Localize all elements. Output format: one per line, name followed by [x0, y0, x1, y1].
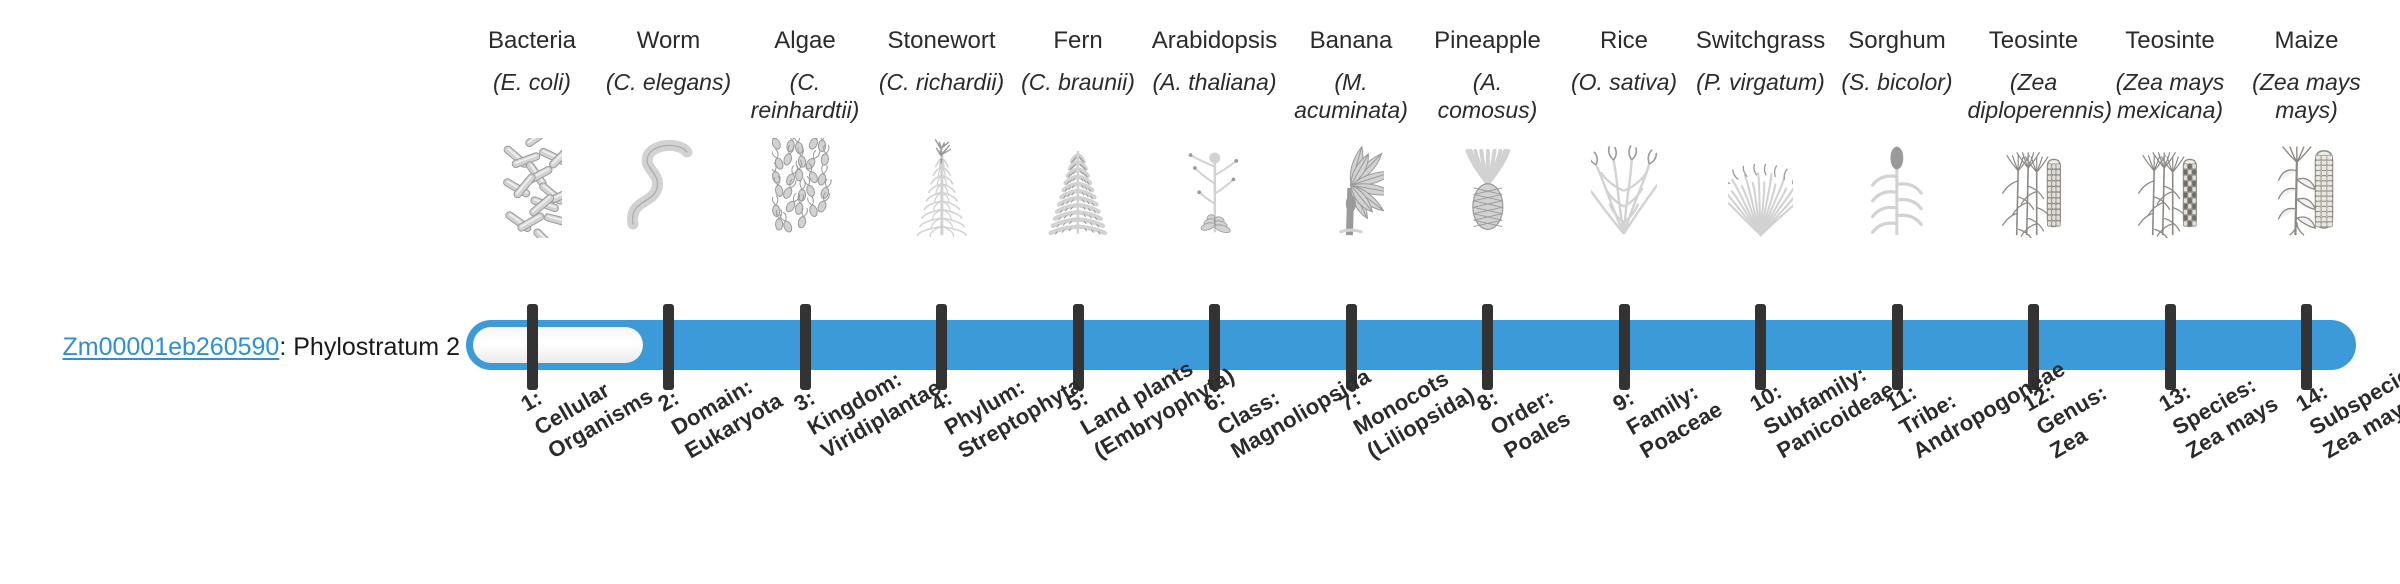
nematode-worm-icon — [601, 138, 737, 238]
species-common-name: Stonewort — [874, 26, 1010, 56]
sorghum-plant-icon — [1829, 138, 1965, 238]
species-latin-name: (C. braunii) — [1010, 68, 1146, 96]
species-column: Switchgrass(P. virgatum) — [1693, 26, 1829, 96]
arabidopsis-plant-icon — [1147, 138, 1283, 238]
species-common-name: Bacteria — [464, 26, 600, 56]
species-latin-name: (C. reinhardtii) — [737, 68, 873, 124]
species-column: Sorghum(S. bicolor) — [1829, 26, 1965, 96]
species-column: Teosinte(Zea diploperennis) — [1966, 26, 2102, 124]
species-latin-name: (O. sativa) — [1556, 68, 1692, 96]
species-common-name: Worm — [601, 26, 737, 56]
maize-plant-ear-icon — [2239, 138, 2375, 238]
phylostratum-text: Phylostratum 2 — [293, 333, 460, 361]
species-latin-name: (A. thaliana) — [1147, 68, 1283, 96]
species-column: Bacteria(E. coli) — [464, 26, 600, 96]
teosinte-plant-ear-icon — [1966, 138, 2102, 238]
species-latin-name: (C. richardii) — [874, 68, 1010, 96]
species-common-name: Teosinte — [2102, 26, 2238, 56]
species-column: Arabidopsis(A. thaliana) — [1147, 26, 1283, 96]
species-common-name: Pineapple — [1420, 26, 1556, 56]
species-latin-name: (S. bicolor) — [1829, 68, 1965, 96]
algae-cells-icon — [737, 138, 873, 238]
species-latin-name: (Zea mays mexicana) — [2102, 68, 2238, 124]
gene-label-separator: : — [279, 333, 293, 361]
phylostratum-figure: Zm00001eb260590: Phylostratum 2 Bacteria… — [0, 0, 2400, 580]
species-common-name: Arabidopsis — [1147, 26, 1283, 56]
species-column: Worm(C. elegans) — [601, 26, 737, 96]
phylostratum-tick[interactable] — [527, 304, 538, 390]
species-latin-name: (P. virgatum) — [1693, 68, 1829, 96]
switchgrass-icon — [1693, 138, 1829, 238]
gene-id-link[interactable]: Zm00001eb260590 — [62, 333, 279, 361]
species-common-name: Algae — [737, 26, 873, 56]
teosinte-plant-ear-icon — [2102, 138, 2238, 238]
rice-plant-icon — [1556, 138, 1692, 238]
phylostratum-rank-layer: 1: Cellular Organisms2: Domain: Eukaryot… — [466, 394, 2374, 584]
bacteria-rods-icon — [464, 138, 600, 238]
species-column: Maize(Zea mays mays) — [2239, 26, 2375, 124]
banana-tree-icon — [1283, 138, 1419, 238]
species-column: Algae(C. reinhardtii) — [737, 26, 873, 124]
species-common-name: Fern — [1010, 26, 1146, 56]
species-common-name: Switchgrass — [1693, 26, 1829, 56]
species-latin-name: (Zea diploperennis) — [1966, 68, 2102, 124]
species-column: Stonewort(C. richardii) — [874, 26, 1010, 96]
species-latin-name: (M. acuminata) — [1283, 68, 1419, 124]
species-column: Banana(M. acuminata) — [1283, 26, 1419, 124]
species-column: Rice(O. sativa) — [1556, 26, 1692, 96]
species-latin-name: (C. elegans) — [601, 68, 737, 96]
gene-label: Zm00001eb260590: Phylostratum 2 — [40, 332, 460, 362]
species-latin-name: (Zea mays mays) — [2239, 68, 2375, 124]
species-common-name: Sorghum — [1829, 26, 1965, 56]
fern-frond-icon — [1010, 138, 1146, 238]
species-latin-name: (A. comosus) — [1420, 68, 1556, 124]
species-common-name: Rice — [1556, 26, 1692, 56]
pineapple-icon — [1420, 138, 1556, 238]
species-header-track: Bacteria(E. coli)Worm(C. elegans)Algae(C… — [466, 26, 2374, 316]
species-common-name: Teosinte — [1966, 26, 2102, 56]
species-common-name: Maize — [2239, 26, 2375, 56]
species-latin-name: (E. coli) — [464, 68, 600, 96]
species-common-name: Banana — [1283, 26, 1419, 56]
species-column: Teosinte(Zea mays mexicana) — [2102, 26, 2238, 124]
species-column: Pineapple(A. comosus) — [1420, 26, 1556, 124]
stonewort-plant-icon — [874, 138, 1010, 238]
species-column: Fern(C. braunii) — [1010, 26, 1146, 96]
